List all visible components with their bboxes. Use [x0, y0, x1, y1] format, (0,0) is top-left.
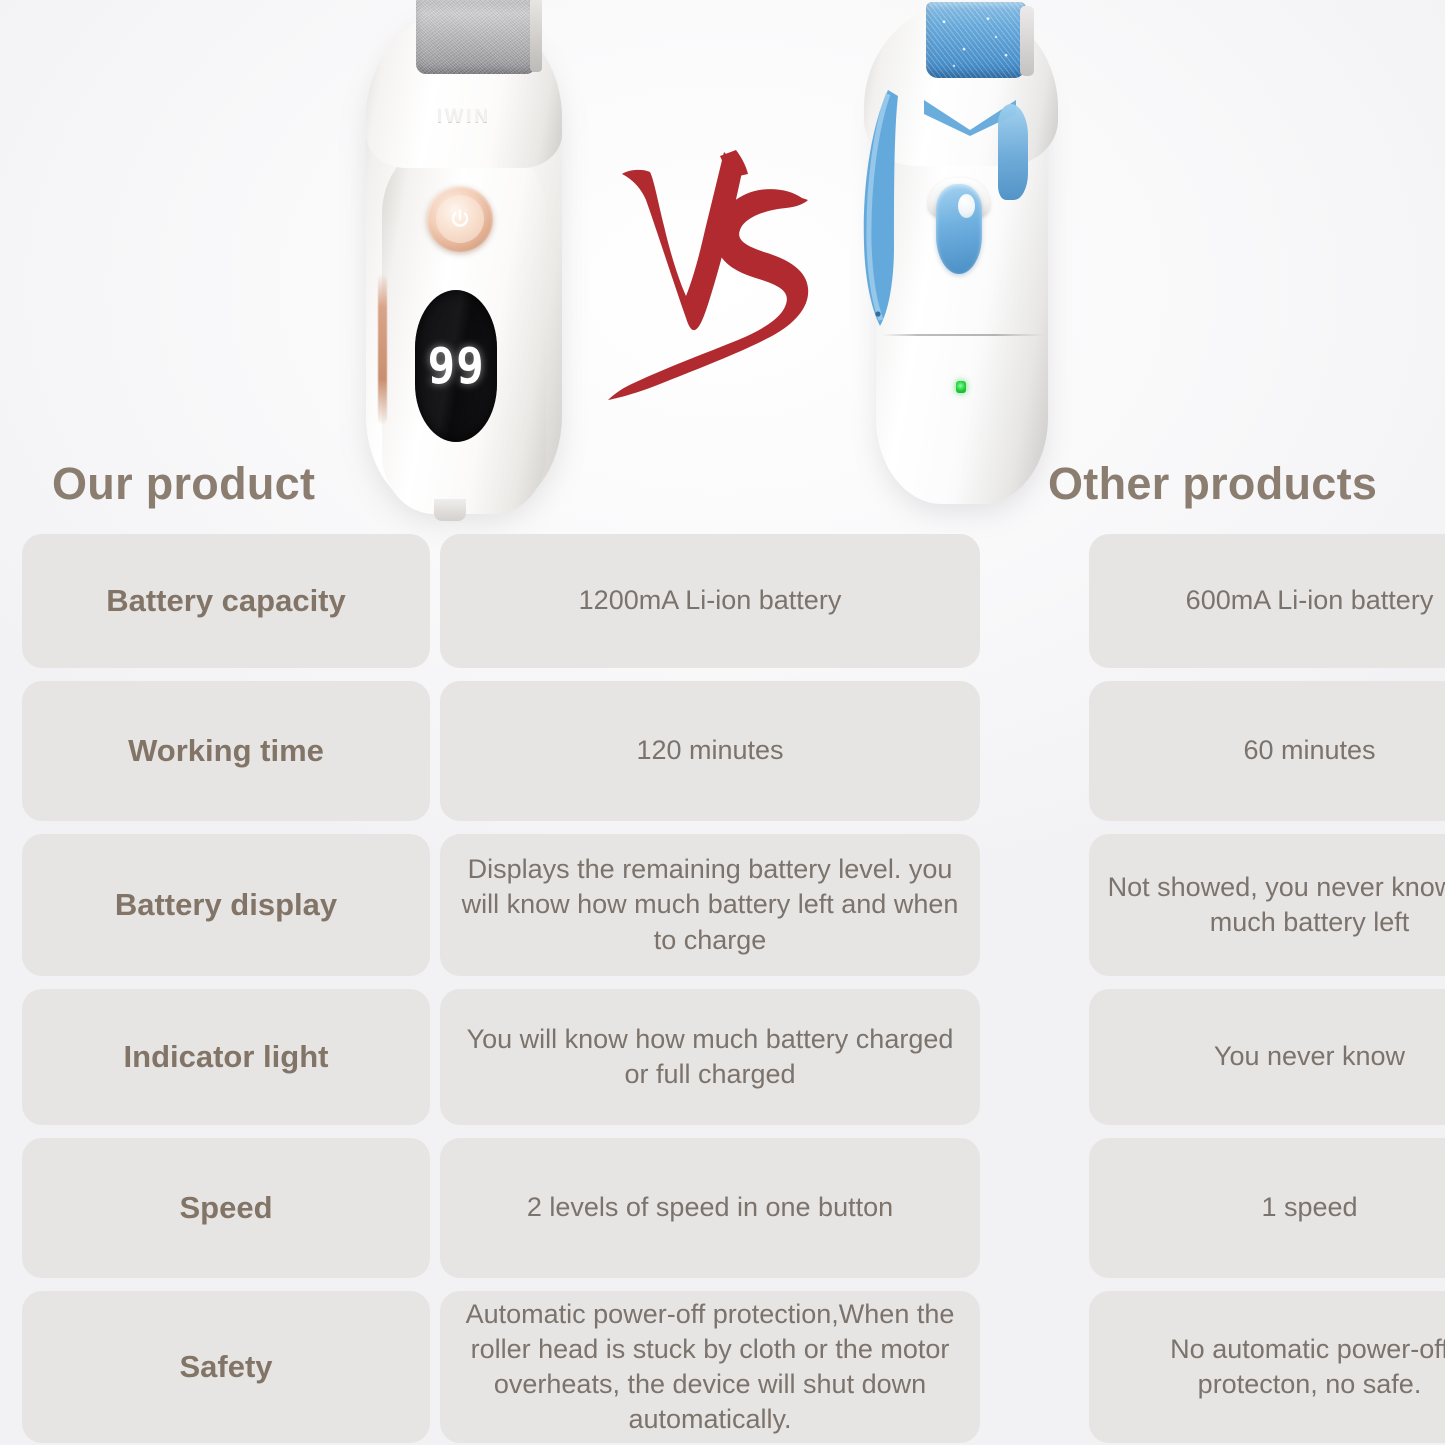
power-icon — [449, 208, 471, 230]
other-value-cell: 600mA Li-ion battery — [1089, 534, 1445, 668]
our-device-accent-strip — [378, 274, 387, 424]
feature-label: Speed — [22, 1138, 430, 1278]
feature-label: Battery capacity — [22, 534, 430, 668]
power-button[interactable] — [427, 186, 493, 252]
feature-label: Battery display — [22, 834, 430, 976]
our-value-cell: 1200mA Li-ion battery — [440, 534, 980, 668]
our-device-base — [434, 499, 466, 521]
battery-level-value: 99 — [427, 337, 484, 395]
other-device-power-switch[interactable] — [936, 184, 982, 274]
other-roller-head-icon — [926, 2, 1026, 78]
indicator-led — [956, 381, 966, 393]
other-device-side-grip — [858, 88, 900, 328]
our-value-cell: 2 levels of speed in one button — [440, 1138, 980, 1278]
table-row: Speed 2 levels of speed in one button 1 … — [0, 1138, 1445, 1278]
our-value-cell: Automatic power-off protection,When the … — [440, 1291, 980, 1443]
other-value-cell: You never know — [1089, 989, 1445, 1125]
other-value-cell: 1 speed — [1089, 1138, 1445, 1278]
other-device-seam — [882, 334, 1044, 336]
our-value-cell: 120 minutes — [440, 681, 980, 821]
table-row: Safety Automatic power-off protection,Wh… — [0, 1291, 1445, 1443]
comparison-infographic: IWIN 99 — [0, 0, 1445, 1445]
other-roller-cap-icon — [1020, 6, 1034, 76]
feature-label: Safety — [22, 1291, 430, 1443]
comparison-table: Battery capacity 1200mA Li-ion battery 6… — [0, 534, 1445, 1445]
table-row: Battery display Displays the remaining b… — [0, 834, 1445, 976]
our-product-header: Our product — [52, 458, 315, 510]
feature-label: Indicator light — [22, 989, 430, 1125]
our-value-cell: You will know how much battery charged o… — [440, 989, 980, 1125]
other-value-cell: Not showed, you never know how much batt… — [1089, 834, 1445, 976]
our-device-brand-text: IWIN — [404, 106, 524, 128]
feature-label: Working time — [22, 681, 430, 821]
other-products-header: Other products — [1048, 458, 1377, 510]
switch-knob-icon — [958, 194, 975, 218]
other-product-image — [852, 0, 1072, 516]
table-row: Indicator light You will know how much b… — [0, 989, 1445, 1125]
hero-section: IWIN 99 — [0, 0, 1445, 530]
table-row: Working time 120 minutes 60 minutes — [0, 681, 1445, 821]
other-value-cell: No automatic power-off protecton, no saf… — [1089, 1291, 1445, 1443]
other-device-right-accent — [998, 104, 1028, 200]
roller-cap-icon — [530, 0, 542, 72]
our-product-image: IWIN 99 — [352, 0, 578, 524]
vs-badge — [596, 148, 832, 406]
roller-head-icon — [416, 0, 536, 74]
battery-level-display: 99 — [415, 290, 497, 442]
vs-icon — [596, 148, 832, 406]
our-value-cell: Displays the remaining battery level. yo… — [440, 834, 980, 976]
other-value-cell: 60 minutes — [1089, 681, 1445, 821]
table-row: Battery capacity 1200mA Li-ion battery 6… — [0, 534, 1445, 668]
